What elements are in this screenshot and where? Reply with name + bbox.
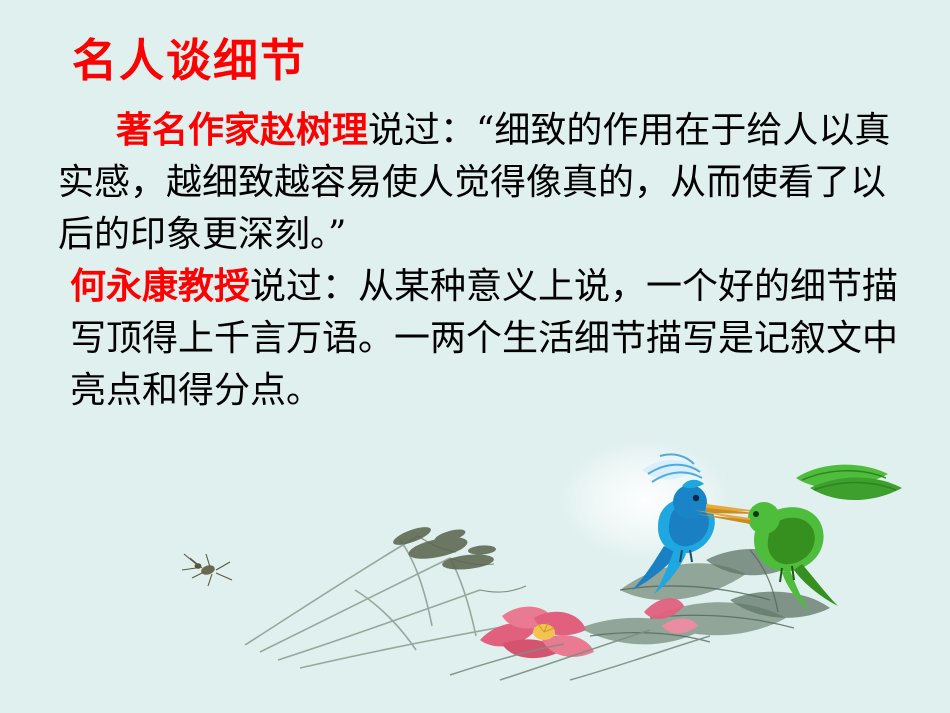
paragraph-2: 何永康教授说过：从某种意义上说，一个好的细节描写顶得上千言万语。一两个生活细节描…	[70, 260, 900, 417]
paragraph-2-highlight: 何永康教授	[70, 265, 250, 307]
illustration	[150, 440, 870, 690]
insect-glyph	[182, 554, 232, 586]
slide-canvas: 名人谈细节 著名作家赵树理说过：“细致的作用在于给人以真实感，越细致越容易使人觉…	[0, 0, 950, 713]
paragraph-1-highlight: 著名作家赵树理	[116, 109, 368, 151]
green-hummingbird	[690, 460, 920, 630]
paragraph-1: 著名作家赵树理说过：“细致的作用在于给人以真实感，越细致越容易使人觉得像真的，从…	[58, 104, 898, 261]
slide-title: 名人谈细节	[72, 24, 307, 89]
